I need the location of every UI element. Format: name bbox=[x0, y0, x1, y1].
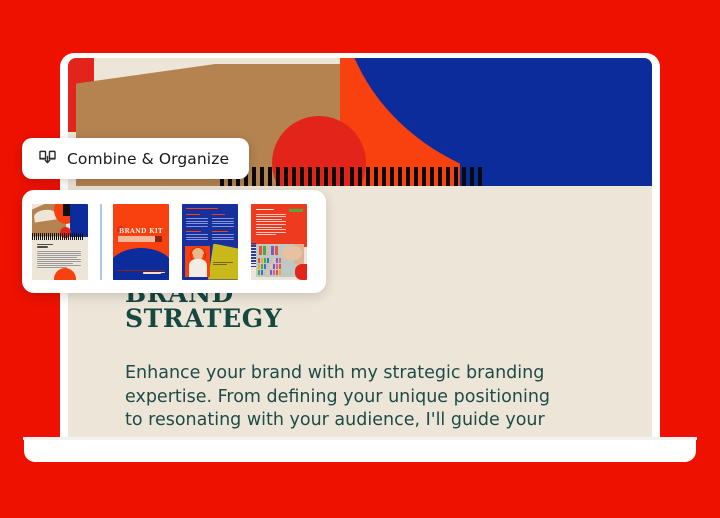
thumb4-color-swatch bbox=[279, 258, 281, 263]
thumb1-barcode-bar bbox=[32, 233, 33, 240]
thumb1-barcode-bar bbox=[72, 233, 73, 240]
thumb3-col1-line bbox=[186, 221, 208, 222]
page-thumbnail-4[interactable] bbox=[251, 204, 307, 280]
thumb1-barcode-bar bbox=[76, 233, 77, 240]
thumb3-col2-line bbox=[212, 218, 234, 219]
thumb4-strip-bar bbox=[251, 243, 256, 245]
thumb4-strip-bar bbox=[251, 260, 256, 262]
thumb3-body bbox=[189, 259, 207, 277]
thumb4-color-chip bbox=[267, 246, 270, 255]
thumb4-strip-bar bbox=[251, 254, 256, 256]
thumb1-text-line bbox=[37, 265, 81, 266]
thumb4-strip-bar bbox=[251, 263, 256, 265]
combine-documents-icon bbox=[38, 149, 57, 168]
thumb4-color-chip bbox=[263, 246, 266, 255]
thumb4-color-chip bbox=[275, 246, 278, 255]
thumb1-barcode-bar bbox=[66, 233, 67, 240]
document-paragraph-line-2: expertise. From defining your unique pos… bbox=[125, 386, 565, 410]
thumb4-red-shape bbox=[295, 264, 307, 280]
page-thumbnail-panel[interactable]: BRAND KIT bbox=[22, 190, 326, 293]
thumb1-text-line bbox=[37, 257, 77, 258]
thumb3-col2-line bbox=[212, 226, 234, 227]
thumb1-barcode-bar bbox=[38, 233, 39, 240]
combine-and-organize-label: Combine & Organize bbox=[67, 150, 229, 168]
thumb3-caption-line bbox=[213, 262, 233, 263]
thumb1-barcode-bar bbox=[50, 233, 51, 240]
thumb1-barcode bbox=[32, 233, 88, 240]
thumb1-barcode-bar bbox=[36, 233, 37, 240]
thumb3-eyebrow bbox=[186, 208, 218, 209]
thumb4-blue-strip bbox=[251, 243, 256, 269]
thumb4-body-line bbox=[256, 232, 286, 233]
thumb3-col2-line bbox=[212, 221, 234, 222]
page-thumbnail-3[interactable] bbox=[182, 204, 238, 280]
thumb1-barcode-bar bbox=[70, 233, 71, 240]
thumb4-body-line bbox=[256, 219, 282, 220]
thumb3-col1b-line bbox=[186, 237, 208, 238]
thumb2-dark-bar bbox=[155, 236, 162, 242]
thumb3-col2b-line bbox=[212, 234, 234, 235]
thumb4-strip-bar bbox=[251, 245, 256, 247]
laptop-base bbox=[24, 437, 696, 462]
thumb4-body-line bbox=[256, 224, 286, 225]
document-paragraph: Enhance your brand with my strategic bra… bbox=[125, 362, 565, 433]
document-paragraph-line-1: Enhance your brand with my strategic bra… bbox=[125, 362, 565, 386]
thumb1-barcode-bar bbox=[34, 233, 35, 240]
thumb1-barcode-bar bbox=[52, 233, 53, 240]
thumb2-rule bbox=[117, 270, 165, 271]
thumb1-barcode-bar bbox=[44, 233, 45, 240]
thumb3-col1b-line bbox=[186, 239, 208, 240]
thumb1-barcode-bar bbox=[62, 233, 63, 240]
thumb1-text-line bbox=[37, 259, 81, 260]
thumb2-title: BRAND KIT bbox=[118, 228, 164, 235]
thumb1-text-line bbox=[37, 263, 73, 264]
thumb4-body-line bbox=[256, 229, 286, 230]
thumb1-text-line bbox=[37, 251, 81, 252]
thumb3-col1-line bbox=[186, 226, 208, 227]
thumb1-text-line bbox=[37, 246, 48, 248]
thumb4-body-line bbox=[256, 214, 286, 215]
thumb4-color-swatch bbox=[279, 264, 281, 269]
thumb3-col1b-line bbox=[186, 231, 201, 233]
thumb4-color-swatch bbox=[279, 270, 281, 275]
thumb4-title-line bbox=[256, 209, 274, 211]
thumb1-barcode-bar bbox=[80, 233, 81, 240]
thumb1-barcode-bar bbox=[60, 233, 61, 240]
thumb1-text-line bbox=[37, 267, 67, 268]
thumb3-col2-line bbox=[212, 214, 225, 216]
thumb1-barcode-bar bbox=[82, 233, 83, 240]
thumb4-color-chip bbox=[271, 246, 274, 255]
thumb1-barcode-bar bbox=[58, 233, 59, 240]
thumb4-strip-bar bbox=[251, 251, 256, 253]
thumb3-col1-line bbox=[186, 218, 208, 219]
thumb1-barcode-bar bbox=[68, 233, 69, 240]
thumb4-color-chip bbox=[259, 246, 262, 255]
thumb1-text-line bbox=[37, 255, 81, 256]
thumb3-col1-line bbox=[186, 223, 208, 224]
thumb4-strip-bar bbox=[251, 248, 256, 250]
thumb3-col1b-line bbox=[186, 234, 208, 235]
thumb1-barcode-bar bbox=[64, 233, 65, 240]
thumb4-body-line bbox=[256, 216, 286, 217]
combine-and-organize-button[interactable]: Combine & Organize bbox=[22, 138, 249, 179]
thumb3-portrait-photo bbox=[185, 246, 210, 277]
thumb1-barcode-bar bbox=[46, 233, 47, 240]
thumb4-hand bbox=[282, 246, 302, 260]
thumb3-col2b-line bbox=[212, 237, 234, 238]
thumb1-barcode-bar bbox=[48, 233, 49, 240]
thumb3-col2-line bbox=[212, 223, 234, 224]
thumb3-col2b-line bbox=[212, 231, 228, 233]
art-navy-block bbox=[460, 58, 652, 186]
thumb3-col1-line bbox=[186, 214, 200, 216]
thumb4-strip-bar bbox=[251, 266, 256, 268]
screenshot-stage: BRAND STRATEGY Enhance your brand with m… bbox=[0, 0, 720, 518]
thumb1-text-line bbox=[37, 261, 81, 262]
thumb1-text-line bbox=[37, 253, 81, 254]
thumb4-strip-bar bbox=[251, 257, 256, 259]
thumb1-barcode-bar bbox=[56, 233, 57, 240]
page-thumbnail-2[interactable]: BRAND KIT bbox=[113, 204, 169, 280]
page-thumbnail-1[interactable] bbox=[32, 204, 88, 280]
thumb4-body-line bbox=[256, 227, 282, 228]
thumb1-barcode-bar bbox=[74, 233, 75, 240]
thumb3-caption-line bbox=[213, 264, 227, 265]
document-paragraph-line-3: to resonating with your audience, I'll g… bbox=[125, 409, 565, 433]
thumb4-green-accent bbox=[289, 209, 303, 212]
thumb3-text-columns bbox=[182, 204, 238, 246]
thumbnail-separator bbox=[100, 204, 102, 280]
thumb1-barcode-bar bbox=[78, 233, 79, 240]
document-heading-line-2: STRATEGY bbox=[125, 306, 545, 331]
thumb1-barcode-bar bbox=[42, 233, 43, 240]
thumb1-barcode-bar bbox=[40, 233, 41, 240]
thumb3-col2b-line bbox=[212, 239, 234, 240]
thumb1-text-line bbox=[37, 244, 53, 246]
thumb1-barcode-bar bbox=[54, 233, 55, 240]
